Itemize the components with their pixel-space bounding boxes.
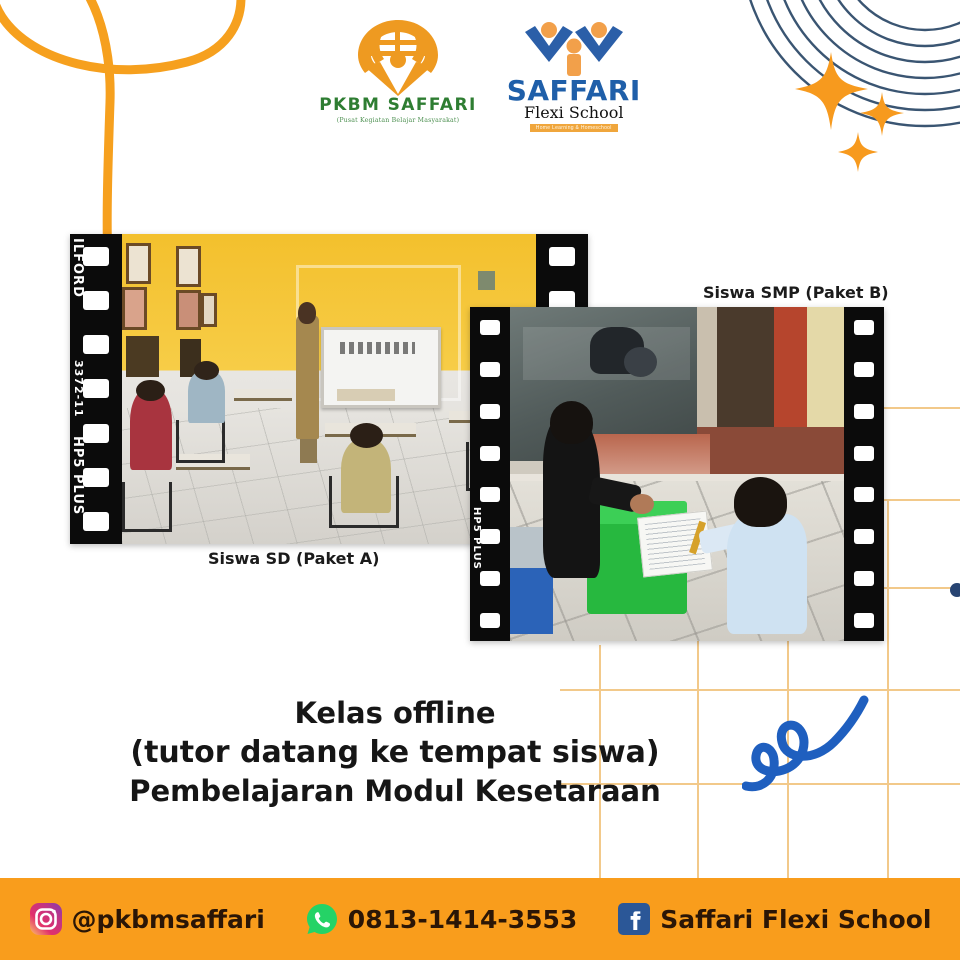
logo-pkbm-subtitle: (Pusat Kegiatan Belajar Masyarakat) <box>337 117 460 124</box>
wall-plate <box>478 271 495 290</box>
film-perforation <box>83 247 109 266</box>
film-perforation <box>480 320 500 335</box>
caption-siswa-sd: Siswa SD (Paket A) <box>208 549 379 568</box>
logo-saffari-subtitle: Flexi School <box>524 103 624 122</box>
wall-cream <box>807 307 844 441</box>
footer-contact-instagram[interactable]: @pkbmsaffari <box>29 902 265 936</box>
logo-saffari-name: SAFFARI <box>507 78 641 105</box>
film-perforation <box>854 362 874 377</box>
poster-canvas: PKBM SAFFARI (Pusat Kegiatan Belajar Mas… <box>0 0 960 960</box>
logo-saffari-flexi-school: SAFFARI Flexi School Home Learning & Hom… <box>507 18 641 132</box>
logo-pkbm-name: PKBM SAFFARI <box>319 97 476 114</box>
wall-picture-frame <box>176 246 201 286</box>
footer-contact-whatsapp[interactable]: 0813-1414-3553 <box>305 902 578 936</box>
facebook-page-name[interactable]: Saffari Flexi School <box>660 905 931 934</box>
film-strip-smp: HP5 PLUS <box>470 307 884 641</box>
film-perforation <box>854 487 874 502</box>
film-perforation <box>854 613 874 628</box>
instagram-handle[interactable]: @pkbmsaffari <box>72 905 265 934</box>
film-perforation <box>480 529 500 544</box>
wall-picture-frame <box>126 243 151 283</box>
film-brand-label: ILFORD <box>70 238 85 298</box>
film-stock-label: HP5 PLUS <box>471 507 482 570</box>
front-desk <box>337 389 395 401</box>
wall-picture-frame <box>122 287 147 330</box>
student-head <box>194 361 219 380</box>
wall-picture-frame <box>201 293 218 327</box>
film-perforation <box>854 446 874 461</box>
film-perforation <box>854 529 874 544</box>
film-perforation <box>480 571 500 586</box>
film-perforation <box>83 424 109 443</box>
tutor-body <box>296 315 319 439</box>
footer-contact-bar: @pkbmsaffari 0813-1414-3553 Saffari Flex… <box>0 878 960 960</box>
header-logo-row: PKBM SAFFARI (Pusat Kegiatan Belajar Mas… <box>0 18 960 132</box>
student-body <box>727 514 807 634</box>
tutor-head <box>550 401 593 444</box>
film-perforation <box>549 247 575 266</box>
facebook-icon[interactable] <box>617 902 651 936</box>
film-perforation <box>480 362 500 377</box>
photo-tutor-student-smp <box>510 307 844 641</box>
bookshelf <box>126 336 159 376</box>
globe-hands-logo-icon <box>350 18 446 96</box>
three-people-logo-icon <box>522 18 626 80</box>
caption-siswa-smp: Siswa SMP (Paket B) <box>703 283 889 302</box>
film-perforation <box>854 571 874 586</box>
instagram-icon[interactable] <box>29 902 63 936</box>
film-perforation <box>83 291 109 310</box>
tutor-head <box>298 302 315 324</box>
headline-block: Kelas offline (tutor datang ke tempat si… <box>0 694 790 811</box>
motorcycle-wheel <box>624 347 657 377</box>
film-perforation <box>83 335 109 354</box>
whiteboard-writing <box>340 342 415 354</box>
footer-contact-facebook[interactable]: Saffari Flexi School <box>617 902 931 936</box>
film-perforation <box>480 404 500 419</box>
student-head <box>350 423 383 448</box>
headline-line-2: (tutor datang ke tempat siswa) <box>0 733 790 773</box>
chair <box>176 420 226 463</box>
headline-line-1: Kelas offline <box>0 694 790 733</box>
headline-line-3: Pembelajaran Modul Kesetaraan <box>0 772 790 811</box>
logo-pkbm-saffari: PKBM SAFFARI (Pusat Kegiatan Belajar Mas… <box>319 18 476 124</box>
student <box>341 439 391 513</box>
tutor-hand <box>630 494 653 514</box>
film-code-label: 3372-11 <box>72 360 85 418</box>
film-perforation-column-right <box>844 307 884 641</box>
tutor-home-visit-illustration <box>510 307 844 641</box>
film-perforation <box>480 487 500 502</box>
film-perforation <box>83 379 109 398</box>
wall-picture-frame <box>176 290 201 330</box>
chair <box>122 482 172 532</box>
film-perforation <box>83 468 109 487</box>
film-perforation <box>480 446 500 461</box>
film-perforation-column-left: ILFORD 3372-11 HP5 PLUS <box>70 234 122 544</box>
student-desk <box>234 389 292 401</box>
logo-saffari-tagline: Home Learning & Homeschool <box>530 124 618 132</box>
film-perforation <box>854 404 874 419</box>
student-head <box>734 477 787 527</box>
film-perforation <box>83 512 109 531</box>
whatsapp-number[interactable]: 0813-1414-3553 <box>348 905 578 934</box>
film-perforation-column-left: HP5 PLUS <box>470 307 510 641</box>
film-perforation <box>480 613 500 628</box>
whatsapp-icon[interactable] <box>305 902 339 936</box>
student <box>130 389 171 470</box>
film-perforation <box>854 320 874 335</box>
film-stock-label: HP5 PLUS <box>70 436 85 515</box>
